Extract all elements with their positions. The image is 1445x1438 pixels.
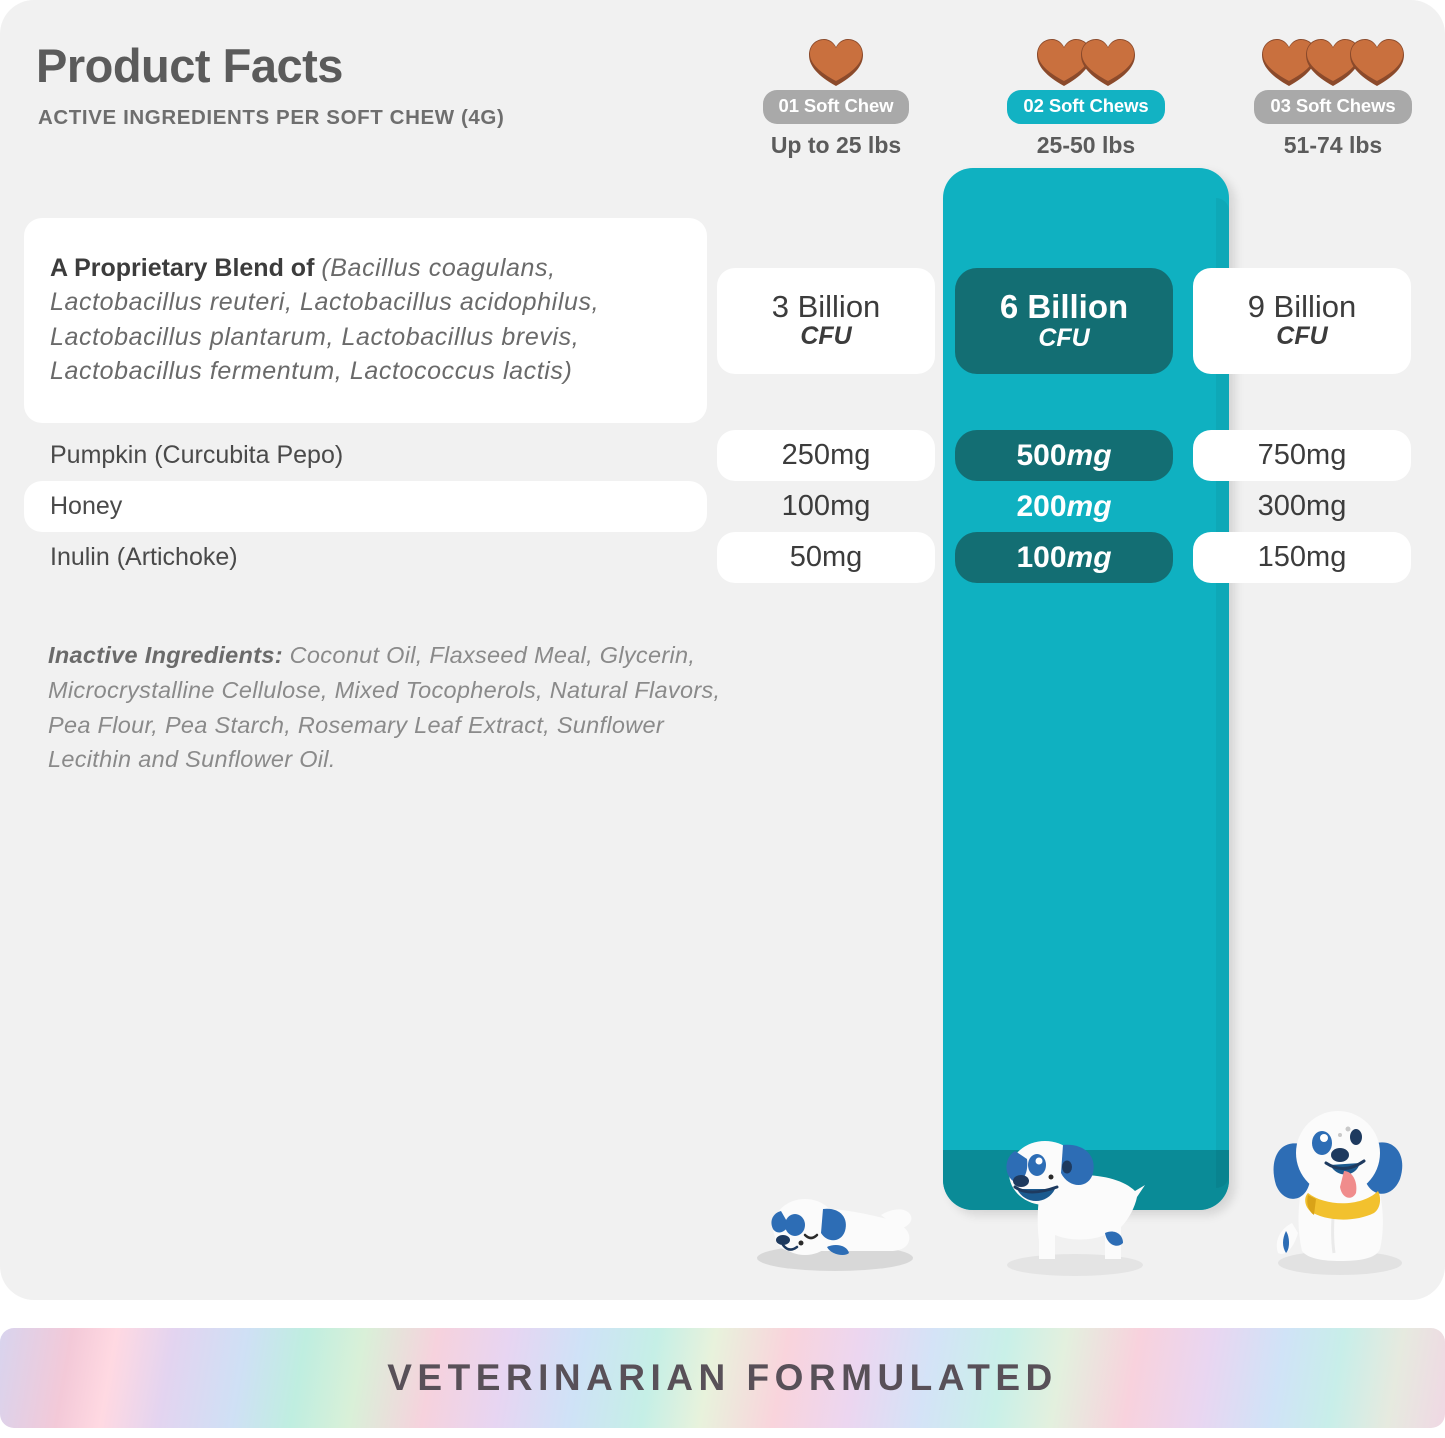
inactive-ingredients: Inactive Ingredients: Coconut Oil, Flaxs… (48, 638, 748, 777)
cfu-amount: 9 Billion (1248, 290, 1357, 323)
mg-value: 300mg (1258, 490, 1347, 523)
badge-col-2: 02 Soft Chews (1007, 90, 1164, 124)
treat-icons-col-3 (1208, 24, 1445, 90)
ingredient-name-inulin: Inulin (Artichoke) (24, 532, 707, 583)
mg-value: 250mg (782, 439, 871, 472)
weight-col-3: 51-74 lbs (1208, 132, 1445, 159)
badge-col-1: 01 Soft Chew (763, 90, 910, 124)
cfu-unit: CFU (1038, 325, 1089, 353)
value-cell-inulin-col-1: 50mg (717, 532, 935, 583)
heart-treat-icon (1078, 36, 1138, 90)
value-cell-honey-col-3: 300mg (1193, 481, 1411, 532)
banner-text: VETERINARIAN FORMULATED (387, 1357, 1058, 1399)
mg-value: 500mg (1016, 439, 1111, 473)
value-cell-pumpkin-col-1: 250mg (717, 430, 935, 481)
value-cell-inulin-col-3: 150mg (1193, 532, 1411, 583)
weight-col-1: Up to 25 lbs (711, 132, 961, 159)
column-header-col-2[interactable]: 02 Soft Chews 25-50 lbs (961, 24, 1211, 159)
mg-value: 200mg (1016, 490, 1111, 524)
ingredient-name-pumpkin: Pumpkin (Curcubita Pepo) (24, 430, 707, 481)
value-cell-pumpkin-col-2: 500mg (955, 430, 1173, 481)
dog-illustration-large (1248, 1075, 1428, 1280)
cfu-amount: 3 Billion (772, 290, 881, 323)
value-cell-honey-col-1: 100mg (717, 481, 935, 532)
mg-value: 150mg (1258, 541, 1347, 574)
mg-value: 50mg (790, 541, 863, 574)
table-row: Honey 100mg 200mg 300mg (24, 481, 1421, 532)
mg-value: 100mg (782, 490, 871, 523)
table-row: Pumpkin (Curcubita Pepo) 250mg 500mg 750… (24, 430, 1421, 481)
heart-treat-icon (806, 36, 866, 90)
value-cell-blend-col-1: 3 Billion CFU (717, 268, 935, 374)
page-subtitle: ACTIVE INGREDIENTS PER SOFT CHEW (4G) (38, 106, 504, 130)
value-cell-inulin-col-2: 100mg (955, 532, 1173, 583)
veterinarian-banner: VETERINARIAN FORMULATED (0, 1328, 1445, 1428)
value-cell-blend-col-3: 9 Billion CFU (1193, 268, 1411, 374)
mg-value: 750mg (1258, 439, 1347, 472)
ingredient-name-blend: A Proprietary Blend of (Bacillus coagula… (24, 218, 707, 423)
page-title: Product Facts (36, 38, 343, 93)
product-facts-card: Product Facts ACTIVE INGREDIENTS PER SOF… (0, 0, 1445, 1300)
value-cell-honey-col-2: 200mg (955, 481, 1173, 532)
weight-col-2: 25-50 lbs (961, 132, 1211, 159)
mg-value: 100mg (1016, 541, 1111, 575)
table-row: A Proprietary Blend of (Bacillus coagula… (24, 218, 1421, 423)
value-cell-pumpkin-col-3: 750mg (1193, 430, 1411, 481)
value-cell-blend-col-2: 6 Billion CFU (955, 268, 1173, 374)
blend-label: A Proprietary Blend of (50, 254, 314, 282)
treat-icons-col-2 (961, 24, 1211, 90)
dog-illustration-small (735, 1155, 935, 1275)
heart-treat-icon (1347, 36, 1407, 90)
dog-illustration-medium (985, 1115, 1160, 1280)
column-header-col-1[interactable]: 01 Soft Chew Up to 25 lbs (711, 24, 961, 159)
inactive-label: Inactive Ingredients: (48, 642, 283, 668)
ingredient-name-honey: Honey (24, 481, 707, 532)
table-row: Inulin (Artichoke) 50mg 100mg 150mg (24, 532, 1421, 583)
cfu-unit: CFU (800, 323, 851, 351)
treat-icons-col-1 (711, 24, 961, 90)
ingredients-table: A Proprietary Blend of (Bacillus coagula… (24, 218, 1421, 583)
cfu-amount: 6 Billion (1000, 289, 1128, 325)
column-header-col-3[interactable]: 03 Soft Chews 51-74 lbs (1208, 24, 1445, 159)
badge-col-3: 03 Soft Chews (1254, 90, 1411, 124)
cfu-unit: CFU (1276, 323, 1327, 351)
